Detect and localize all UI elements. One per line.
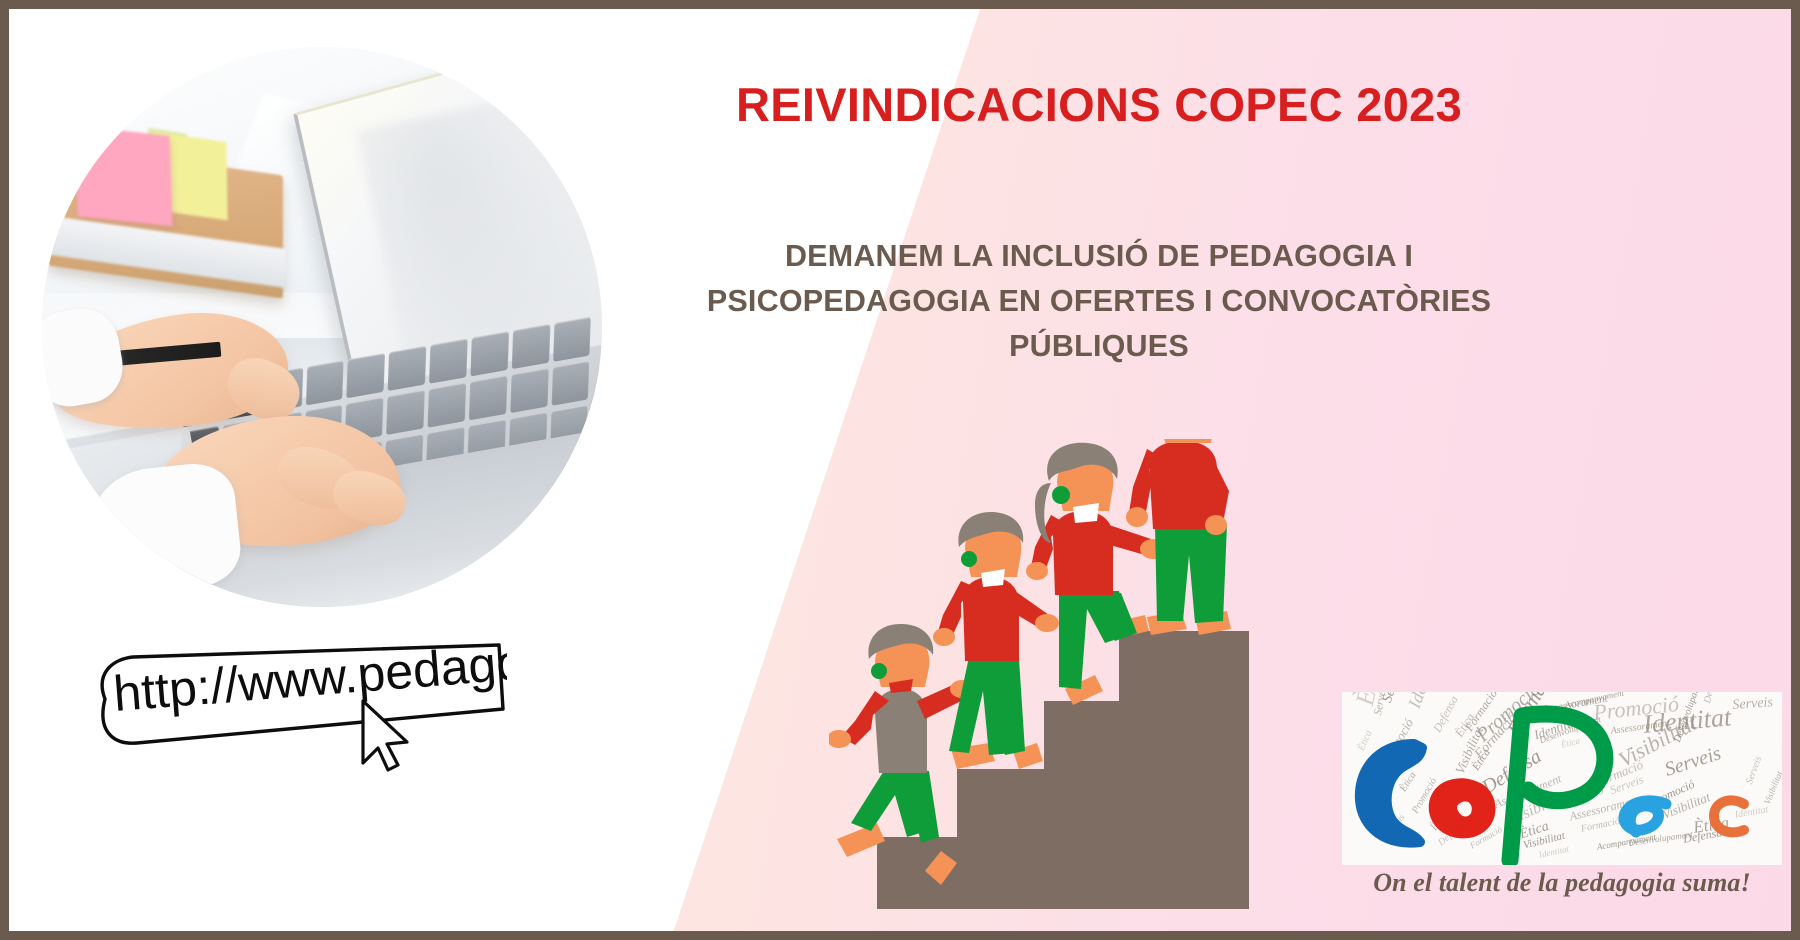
website-url-graphic[interactable]: http://www.pedagogs.cat bbox=[87, 639, 507, 774]
copec-letters bbox=[1342, 692, 1782, 865]
subtitle-line-1: DEMANEM LA INCLUSIÓ DE PEDAGOGIA I bbox=[664, 234, 1534, 279]
poster-subtitle: DEMANEM LA INCLUSIÓ DE PEDAGOGIA I PSICO… bbox=[664, 234, 1534, 369]
stairs-illustration bbox=[829, 439, 1249, 909]
copec-logo: AcompanyamentDesenvolupamentFormacióServ… bbox=[1342, 692, 1782, 904]
subtitle-line-2: PSICOPEDAGOGIA EN OFERTES I CONVOCATÒRIE… bbox=[664, 279, 1534, 324]
subtitle-line-3: PÚBLIQUES bbox=[664, 324, 1534, 369]
poster-title: REIVINDICACIONS COPEC 2023 bbox=[699, 77, 1499, 132]
copec-wordcloud: AcompanyamentDesenvolupamentFormacióServ… bbox=[1342, 692, 1782, 865]
poster-canvas: http://www.pedagogs.cat REIVINDICACIONS … bbox=[0, 0, 1800, 940]
logo-tagline: On el talent de la pedagogia suma! bbox=[1342, 868, 1782, 898]
address-bar-icon: http://www.pedagogs.cat bbox=[87, 639, 507, 774]
laptop-photo bbox=[42, 47, 602, 607]
